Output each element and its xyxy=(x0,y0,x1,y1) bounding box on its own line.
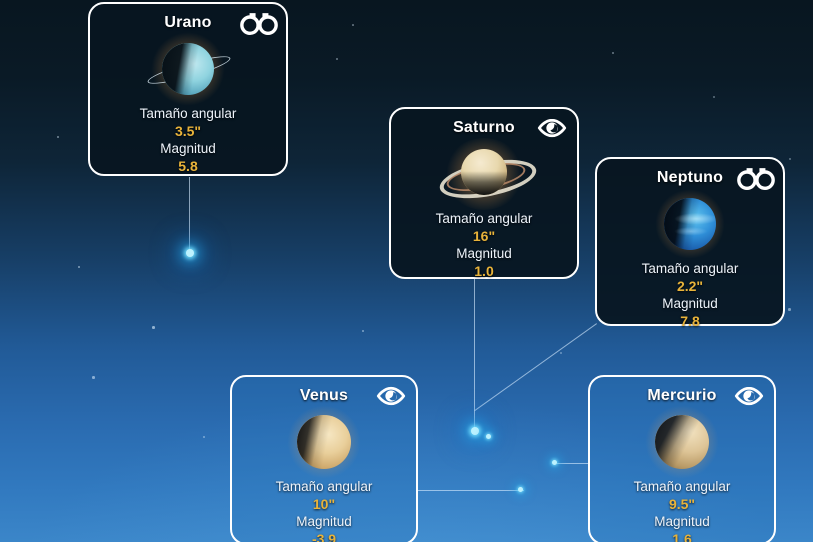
leader-line-mercurio xyxy=(557,463,590,464)
background-star xyxy=(78,266,80,268)
binoculars-icon[interactable] xyxy=(240,11,278,35)
magnitude-value: 1.6 xyxy=(598,530,766,542)
background-star xyxy=(203,436,205,438)
background-star xyxy=(57,136,59,138)
magnitude-label: Magnitud xyxy=(399,245,569,262)
planet-card-urano[interactable]: Urano Tamaño angular 3.5" xyxy=(88,2,288,176)
star-marker-mercurio[interactable] xyxy=(552,460,557,465)
background-star xyxy=(789,158,791,160)
background-star xyxy=(612,52,614,54)
planet-card-saturno[interactable]: Saturno Tamaño angular 16" Magnitud 1.0 xyxy=(389,107,579,279)
planet-image-venus xyxy=(240,410,408,474)
background-star xyxy=(788,308,791,311)
planet-image-neptuno xyxy=(605,192,775,256)
angular-size-value: 10" xyxy=(240,495,408,513)
angular-size-label: Tamaño angular xyxy=(240,478,408,495)
angular-size-label: Tamaño angular xyxy=(399,210,569,227)
angular-size-label: Tamaño angular xyxy=(98,105,278,122)
angular-size-label: Tamaño angular xyxy=(605,260,775,277)
star-marker-urano[interactable] xyxy=(186,249,194,257)
planet-name-neptuno: Neptuno xyxy=(657,169,723,187)
background-star xyxy=(92,376,95,379)
star-marker-venus[interactable] xyxy=(518,487,523,492)
magnitude-value: -3.9 xyxy=(240,530,408,542)
magnitude-value: 1.0 xyxy=(399,262,569,280)
eye-icon[interactable] xyxy=(734,384,764,408)
magnitude-value: 5.8 xyxy=(98,157,278,175)
background-star xyxy=(560,352,562,354)
angular-size-value: 2.2" xyxy=(605,277,775,295)
card-header: Neptuno xyxy=(605,165,775,191)
leader-line-urano xyxy=(189,177,190,253)
star-marker-neptuno[interactable] xyxy=(486,434,491,439)
planet-name-urano: Urano xyxy=(164,14,211,32)
background-star xyxy=(352,24,354,26)
angular-size-value: 9.5" xyxy=(598,495,766,513)
eye-icon[interactable] xyxy=(537,116,567,140)
leader-line-saturno xyxy=(474,279,475,431)
magnitude-value: 7.8 xyxy=(605,312,775,330)
planet-name-venus: Venus xyxy=(300,387,348,405)
magnitude-label: Magnitud xyxy=(98,140,278,157)
planet-image-saturno xyxy=(399,142,569,206)
planet-image-urano xyxy=(98,37,278,101)
magnitude-label: Magnitud xyxy=(240,513,408,530)
background-star xyxy=(152,326,155,329)
angular-size-value: 16" xyxy=(399,227,569,245)
magnitude-label: Magnitud xyxy=(605,295,775,312)
planet-name-saturno: Saturno xyxy=(453,119,515,137)
background-star xyxy=(362,330,364,332)
leader-line-venus xyxy=(418,490,524,491)
sky-map-overlay: Urano Tamaño angular 3.5" xyxy=(0,0,813,542)
background-star xyxy=(713,96,715,98)
background-star xyxy=(336,58,338,60)
planet-card-neptuno[interactable]: Neptuno Tamaño angular 2.2" Magnit xyxy=(595,157,785,326)
planet-name-mercurio: Mercurio xyxy=(647,387,716,405)
magnitude-label: Magnitud xyxy=(598,513,766,530)
angular-size-value: 3.5" xyxy=(98,122,278,140)
planet-image-mercurio xyxy=(598,410,766,474)
planet-card-venus[interactable]: Venus Tamaño angular 10" Magnitud -3.9 xyxy=(230,375,418,542)
star-marker-saturno[interactable] xyxy=(471,427,479,435)
planet-card-mercurio[interactable]: Mercurio Tamaño angular 9.5" Magnitud 1.… xyxy=(588,375,776,542)
angular-size-label: Tamaño angular xyxy=(598,478,766,495)
eye-icon[interactable] xyxy=(376,384,406,408)
binoculars-icon[interactable] xyxy=(737,166,775,190)
